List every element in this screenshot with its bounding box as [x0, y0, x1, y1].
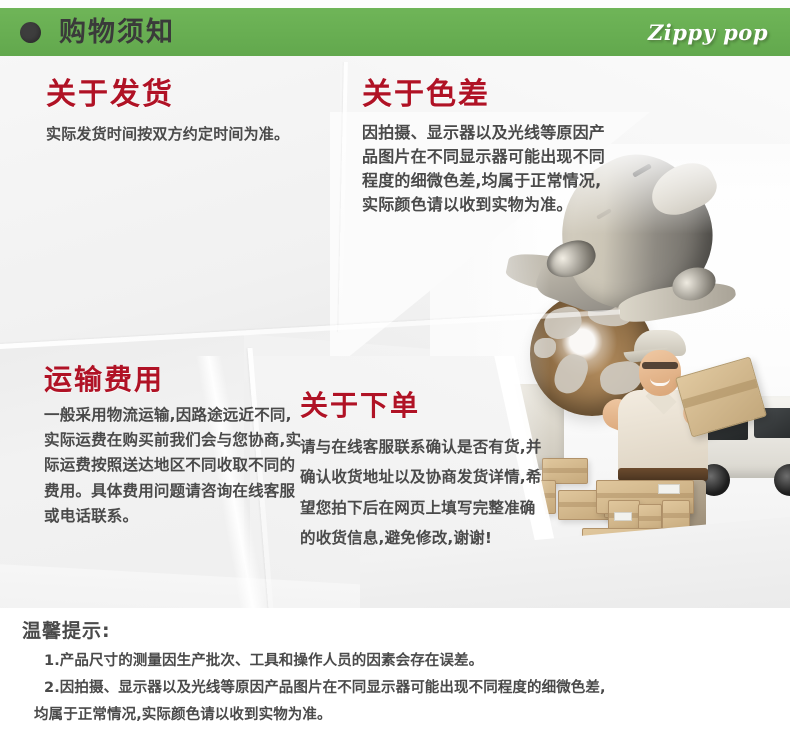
section-shipping-title: 关于发货: [46, 78, 306, 113]
section-color-body: 因拍摄、显示器以及光线等原因产品图片在不同显示器可能出现不同程度的细微色差,均属…: [362, 121, 612, 218]
section-color-title: 关于色差: [362, 78, 612, 113]
section-freight-title: 运输费用: [44, 364, 306, 396]
shipping-label: [658, 484, 680, 494]
section-order: 关于下单 请与在线客服联系确认是否有货,并确认收货地址以及协商发货详情,希望您拍…: [300, 390, 550, 553]
tips-item: 1.产品尺寸的测量因生产批次、工具和操作人员的因素会存在误差。: [44, 648, 774, 675]
tips-list: 1.产品尺寸的测量因生产批次、工具和操作人员的因素会存在误差。 2.因拍摄、显示…: [44, 648, 774, 728]
dot-icon: [20, 22, 41, 43]
tips-title: 温馨提示:: [22, 616, 111, 643]
section-shipping: 关于发货 实际发货时间按双方约定时间为准。: [46, 78, 306, 146]
tips-section: 温馨提示: 1.产品尺寸的测量因生产批次、工具和操作人员的因素会存在误差。 2.…: [0, 608, 790, 739]
section-order-body: 请与在线客服联系确认是否有货,并确认收货地址以及协商发货详情,希望您拍下后在网页…: [300, 432, 550, 553]
page-title: 购物须知: [59, 19, 175, 46]
section-freight: 运输费用 一般采用物流运输,因路途远近不同,实际运费在购买前我们会与您协商,实际…: [44, 364, 306, 529]
section-shipping-body: 实际发货时间按双方约定时间为准。: [46, 122, 306, 146]
section-order-title: 关于下单: [300, 390, 550, 422]
section-color: 关于色差 因拍摄、显示器以及光线等原因产品图片在不同显示器可能出现不同程度的细微…: [362, 78, 612, 218]
shopping-notice-page: 购物须知 Zippy pop: [0, 0, 790, 739]
tips-item: 2.因拍摄、显示器以及光线等原因产品图片在不同显示器可能出现不同程度的细微色差,: [44, 675, 774, 702]
tips-item: 均属于正常情况,实际颜色请以收到实物为准。: [34, 702, 774, 729]
shipping-label: [614, 512, 632, 521]
section-freight-body: 一般采用物流运输,因路途远近不同,实际运费在购买前我们会与您协商,实际运费按照送…: [44, 403, 306, 529]
page-header: 购物须知 Zippy pop: [0, 8, 790, 56]
brand-logo: Zippy pop: [648, 20, 768, 45]
